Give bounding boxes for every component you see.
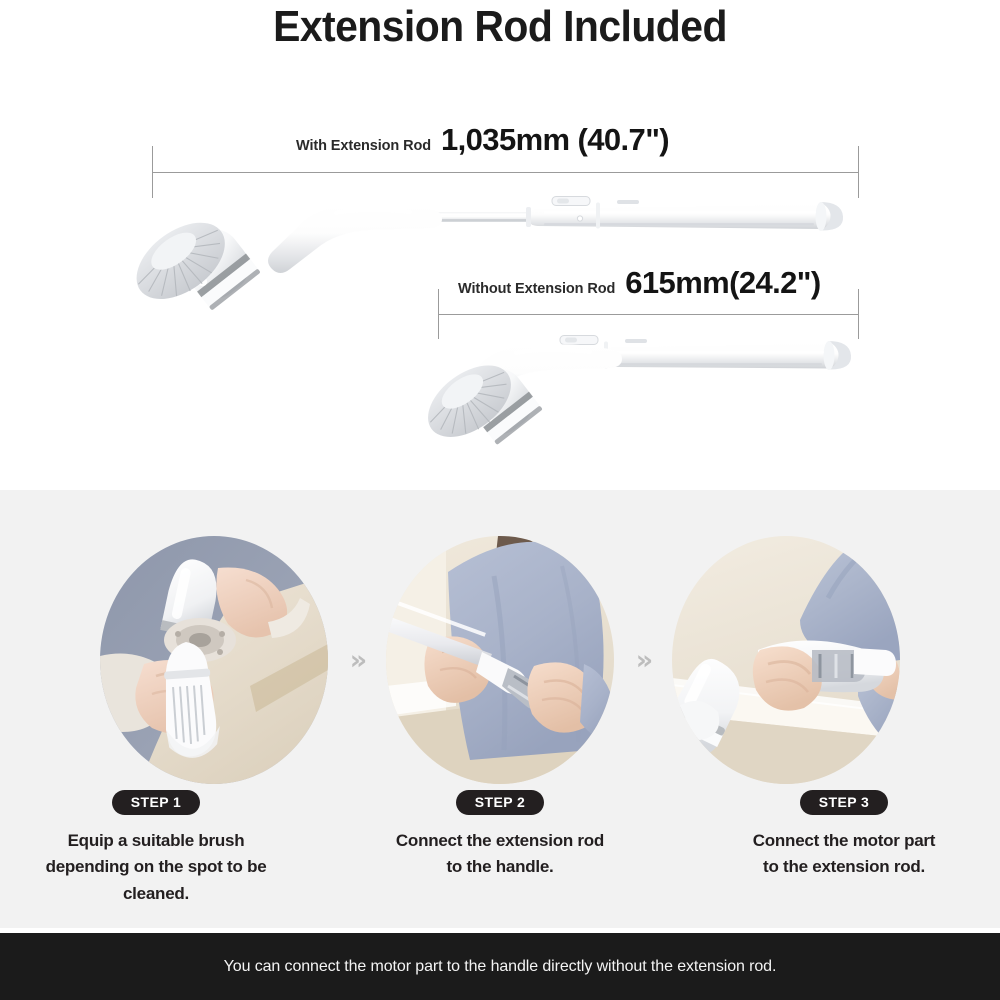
step-photo-2 [386, 536, 614, 784]
step-1-image [100, 536, 328, 784]
step-photo-wrap-2 [386, 536, 614, 784]
step-caption-2: STEP 2 Connect the extension rod to the … [357, 790, 643, 910]
step-captions-row: STEP 1 Equip a suitable brush depending … [0, 790, 1000, 910]
step-description-2-line-1: Connect the extension rod [357, 828, 643, 854]
step-description-2: Connect the extension rod to the handle. [357, 828, 643, 881]
dimension-caption: With Extension Rod [296, 138, 431, 154]
step-arrow-2: » [614, 647, 672, 674]
step-description-3-line-1: Connect the motor part [701, 828, 987, 854]
steps-section: » [0, 490, 1000, 933]
step-description-3-line-2: to the extension rod. [701, 854, 987, 880]
step-description-2-line-2: to the handle. [357, 854, 643, 880]
step-photo-wrap-3 [672, 536, 900, 784]
step-photo-wrap-1 [100, 536, 328, 784]
step-3-image [672, 536, 900, 784]
product-detail-page: Extension Rod Included With Extension Ro… [0, 0, 1000, 1000]
step-badge-1: STEP 1 [112, 790, 200, 815]
footer-note-text: You can connect the motor part to the ha… [224, 958, 777, 976]
step-photos-row: » [0, 535, 1000, 785]
step-caption-1: STEP 1 Equip a suitable brush depending … [13, 790, 299, 910]
step-caption-3: STEP 3 Connect the motor part to the ext… [701, 790, 987, 910]
step-photo-3 [672, 536, 900, 784]
step-badge-2: STEP 2 [456, 790, 544, 815]
footer-note-bar: You can connect the motor part to the ha… [0, 933, 1000, 1000]
product-illustration-with-extension-rod [130, 185, 875, 320]
dimension-value: 1,035mm (40.7") [441, 122, 669, 158]
step-description-1-line-2: depending on the spot to be cleaned. [13, 854, 299, 907]
page-title: Extension Rod Included [35, 2, 965, 52]
step-2-image [386, 536, 614, 784]
caption-spacer-1 [299, 790, 357, 910]
product-illustration-without-extension-rod [428, 325, 878, 455]
step-description-1: Equip a suitable brush depending on the … [13, 828, 299, 907]
step-description-3: Connect the motor part to the extension … [701, 828, 987, 881]
dimensions-section: Extension Rod Included With Extension Ro… [0, 0, 1000, 490]
dimension-label-with-extension-rod: With Extension Rod 1,035mm (40.7") [296, 122, 669, 158]
caption-spacer-2 [643, 790, 701, 910]
step-arrow-1: » [328, 647, 386, 674]
step-photo-1 [100, 536, 328, 784]
step-badge-3: STEP 3 [800, 790, 888, 815]
step-description-1-line-1: Equip a suitable brush [13, 828, 299, 854]
dimension-line-with-extension-rod [152, 172, 859, 173]
